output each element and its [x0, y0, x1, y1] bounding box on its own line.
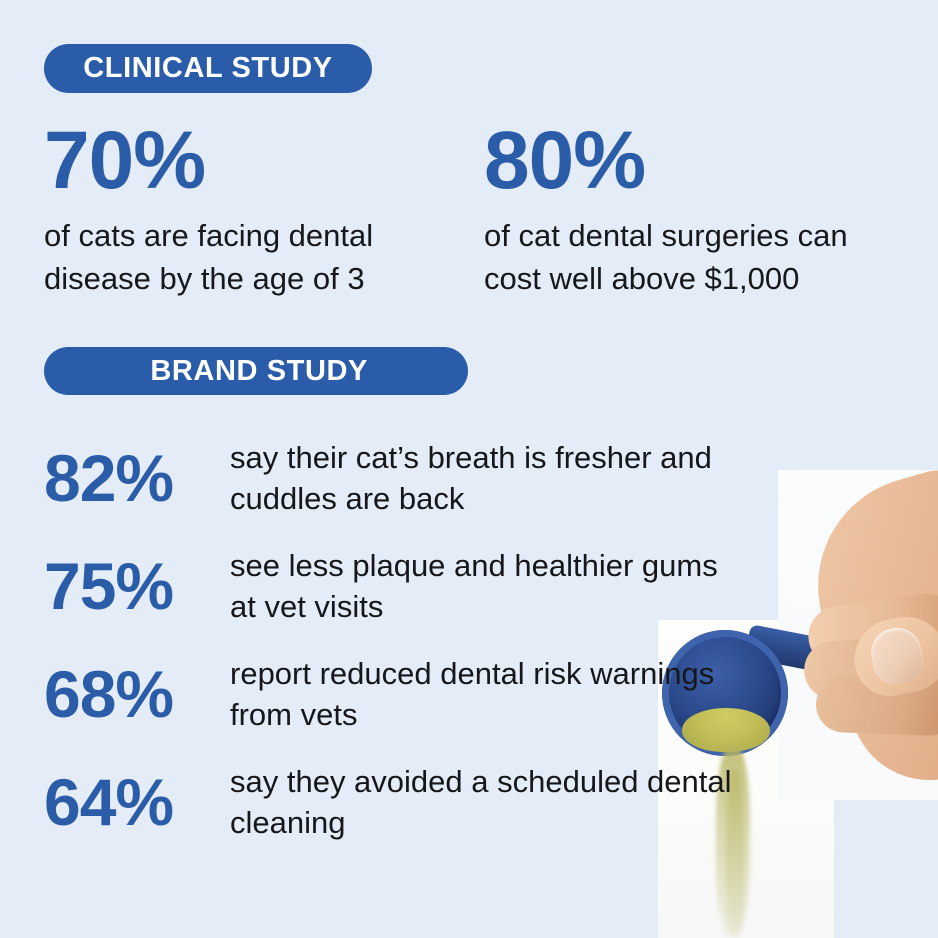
brand-stat-percent: 75%	[44, 551, 230, 621]
brand-stat-description: say they avoided a scheduled dental clea…	[230, 761, 744, 843]
clinical-study-badge: CLINICAL STUDY	[44, 44, 372, 93]
clinical-stat-percent: 80%	[484, 118, 904, 204]
brand-stat-description: report reduced dental risk warnings from…	[230, 653, 744, 735]
brand-study-badge: BRAND STUDY	[44, 347, 468, 395]
brand-stat-row: 82% say their cat’s breath is fresher an…	[44, 424, 744, 532]
clinical-stat-percent: 70%	[44, 118, 464, 204]
brand-stat-row: 68% report reduced dental risk warnings …	[44, 640, 744, 748]
brand-stat-description: say their cat’s breath is fresher and cu…	[230, 437, 744, 519]
brand-stat-description: see less plaque and healthier gums at ve…	[230, 545, 744, 627]
brand-stat-percent: 68%	[44, 659, 230, 729]
brand-stat-percent: 64%	[44, 767, 230, 837]
clinical-stat-description: of cat dental surgeries can cost well ab…	[484, 214, 904, 300]
brand-stat-row: 75% see less plaque and healthier gums a…	[44, 532, 744, 640]
brand-stats-list: 82% say their cat’s breath is fresher an…	[44, 424, 744, 856]
brand-stat-row: 64% say they avoided a scheduled dental …	[44, 748, 744, 856]
brand-stat-percent: 82%	[44, 443, 230, 513]
clinical-stat-description: of cats are facing dental disease by the…	[44, 214, 464, 300]
infographic-canvas: CLINICAL STUDY 70% of cats are facing de…	[0, 0, 938, 938]
clinical-stat-item: 80% of cat dental surgeries can cost wel…	[484, 118, 904, 300]
clinical-stats-row: 70% of cats are facing dental disease by…	[0, 118, 938, 308]
clinical-stat-item: 70% of cats are facing dental disease by…	[44, 118, 464, 300]
